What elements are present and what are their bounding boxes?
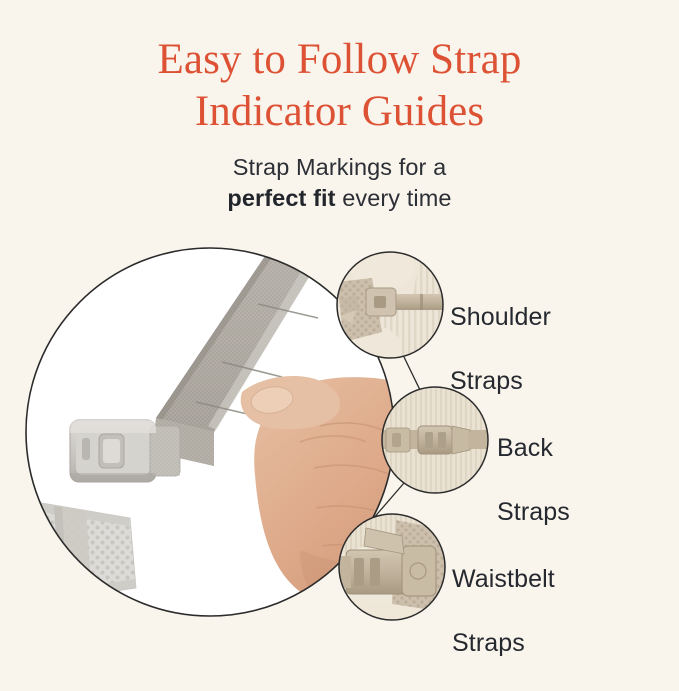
infographic-root: Easy to Follow Strap Indicator Guides St… (0, 0, 679, 679)
callout-label-waistbelt-line2: Straps (452, 627, 555, 659)
connector-shoulder-to-back (404, 357, 420, 390)
illustration-svg (0, 220, 679, 660)
callout-label-shoulder-line2: Straps (450, 365, 551, 397)
subtitle-line-1: Strap Markings for a (0, 152, 679, 183)
illustration-stage (0, 220, 679, 660)
subtitle-suffix: every time (336, 185, 452, 211)
page-title-line-2: Indicator Guides (0, 86, 679, 138)
side-release-buckle (70, 420, 180, 482)
callout-label-shoulder-line1: Shoulder (450, 301, 551, 333)
subtitle-emphasis: perfect fit (227, 185, 335, 211)
subtitle-block: Strap Markings for a perfect fit every t… (0, 152, 679, 214)
callout-label-back-line2: Straps (497, 496, 570, 528)
callout-label-back-line1: Back (497, 432, 570, 464)
headline-block: Easy to Follow Strap Indicator Guides (0, 34, 679, 138)
callout-label-waistbelt: Waistbelt Straps (452, 531, 555, 691)
page-title-line-1: Easy to Follow Strap (0, 34, 679, 86)
callout-label-waistbelt-line1: Waistbelt (452, 563, 555, 595)
callout-circle-waistbelt[interactable] (339, 514, 445, 620)
subtitle-line-2: perfect fit every time (0, 183, 679, 214)
